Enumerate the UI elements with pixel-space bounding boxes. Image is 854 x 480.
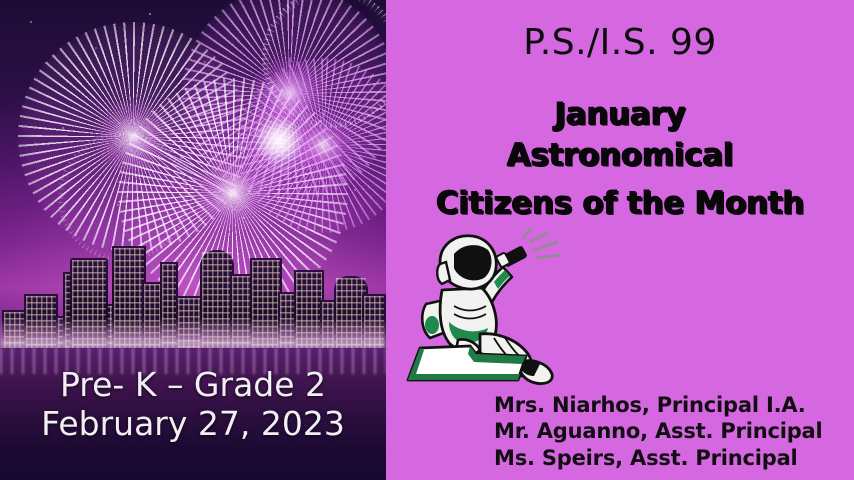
firework-burst-left [18,22,248,252]
firework-burst-right [236,58,386,233]
city-light-glow [0,318,386,352]
astronaut-reading-book-icon [402,228,592,393]
caption-grade-range: Pre- K – Grade 2 [0,366,386,405]
caption-date: February 27, 2023 [0,405,386,444]
headline-line-theme: Astronomical [386,137,854,173]
helmet-visor [454,245,491,280]
slide-canvas: Pre- K – Grade 2 February 27, 2023 P.S./… [0,0,854,480]
headline-line-award: Citizens of the Month [386,185,854,221]
flashlight [496,245,528,268]
headline-line-month: January [386,96,854,132]
administrator-asst-principal-2: Ms. Speirs, Asst. Principal [494,445,844,471]
firework-sparkle-ring [262,0,386,128]
fireworks-city-photo: Pre- K – Grade 2 February 27, 2023 [0,0,386,480]
administrator-principal: Mrs. Niarhos, Principal I.A. [494,392,844,418]
right-info-panel: P.S./I.S. 99 January Astronomical Citize… [386,0,854,480]
book-edge-bottom [408,374,520,380]
left-caption: Pre- K – Grade 2 February 27, 2023 [0,366,386,443]
backpack-green-patch [425,316,439,334]
administrator-asst-principal-1: Mr. Aguanno, Asst. Principal [494,418,844,444]
firework-burst-top-right [182,0,386,201]
flashlight-rays [523,229,560,258]
school-name: P.S./I.S. 99 [386,22,854,63]
firework-bright-flare [236,98,322,184]
administrators-list: Mrs. Niarhos, Principal I.A. Mr. Aguanno… [494,392,844,471]
